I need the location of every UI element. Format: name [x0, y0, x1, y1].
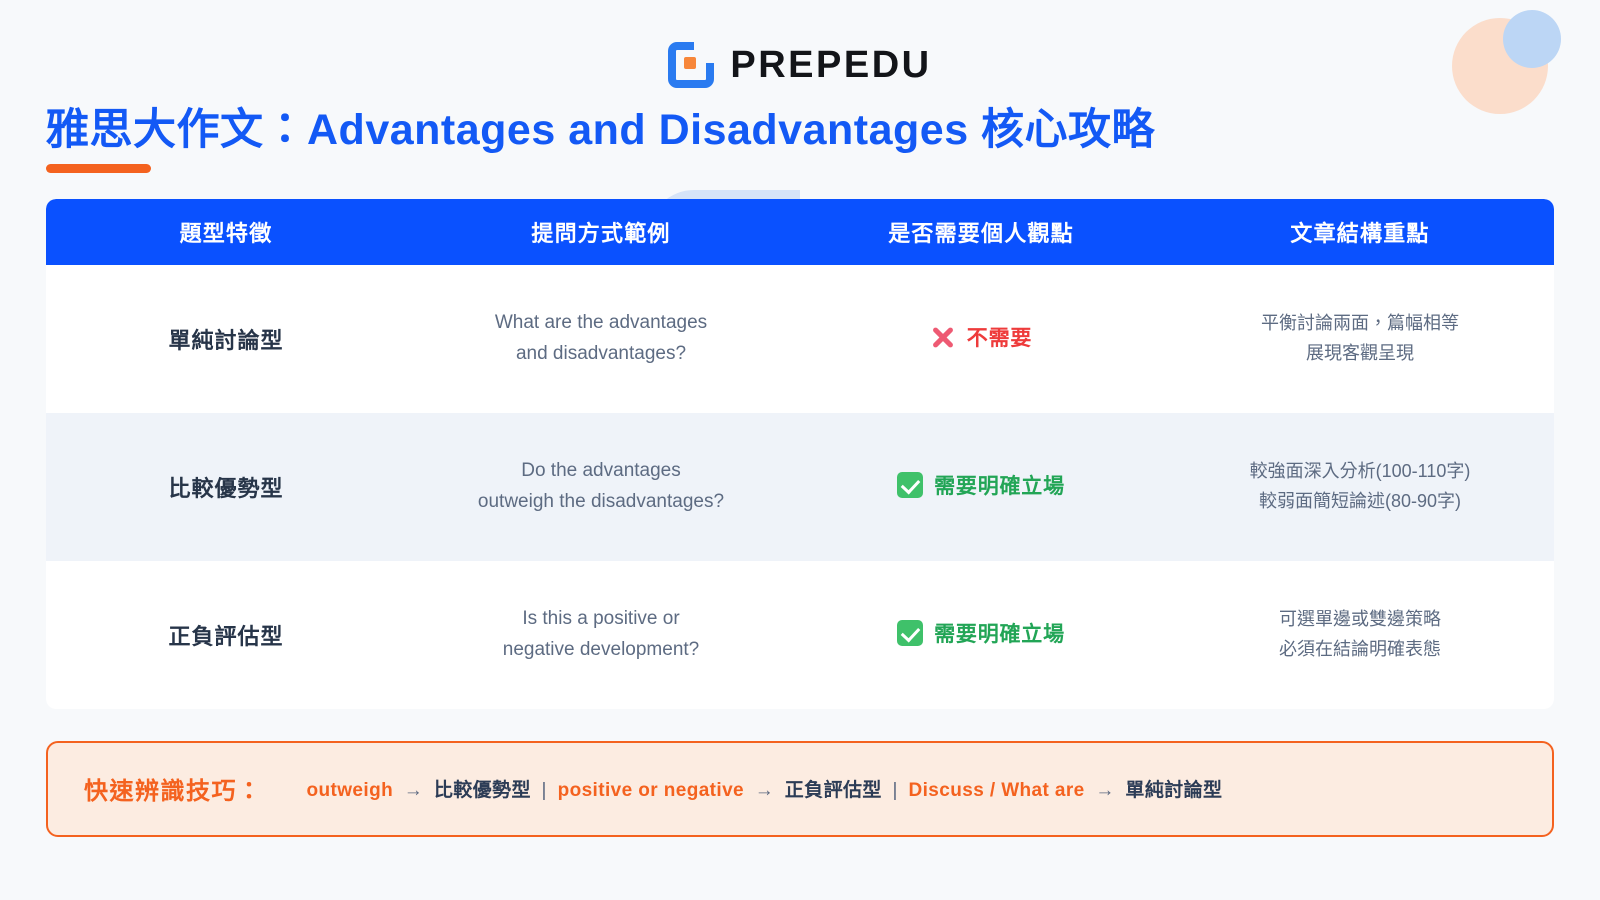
table-row: 比較優勢型 Do the advantagesoutweigh the disa…: [46, 413, 1554, 561]
row-stance-cell: 不需要: [796, 308, 1166, 369]
arrow-icon: →: [1085, 780, 1126, 801]
separator: |: [531, 780, 558, 801]
check-icon: [897, 472, 923, 498]
status-badge: 不需要: [930, 322, 1032, 352]
tip-label: 快速辨識技巧：: [84, 771, 263, 806]
tip-result: 比較優勢型: [434, 780, 531, 801]
status-badge: 需要明確立場: [897, 618, 1065, 648]
row-structure-notes: 平衡討論兩面，篇幅相等展現客觀呈現: [1166, 295, 1554, 382]
separator: |: [882, 780, 909, 801]
table-header-row: 題型特徵 提問方式範例 是否需要個人觀點 文章結構重點: [46, 199, 1554, 265]
row-stance-cell: 需要明確立場: [796, 604, 1166, 665]
tip-keyword: Discuss / What are: [909, 780, 1085, 801]
status-badge: 需要明確立場: [897, 470, 1065, 500]
page-title: 雅思大作文：Advantages and Disadvantages 核心攻略: [46, 106, 1600, 156]
arrow-icon: →: [393, 780, 434, 801]
stance-label: 需要明確立場: [934, 618, 1065, 648]
row-question-example: What are the advantagesand disadvantages…: [406, 294, 796, 383]
row-type-label: 正負評估型: [46, 605, 406, 665]
row-structure-notes: 可選單邊或雙邊策略必須在結論明確表態: [1166, 591, 1554, 678]
check-icon: [897, 620, 923, 646]
column-header-type: 題型特徵: [46, 202, 406, 262]
comparison-table: 題型特徵 提問方式範例 是否需要個人觀點 文章結構重點 單純討論型 What a…: [46, 199, 1554, 709]
row-question-example: Do the advantagesoutweigh the disadvanta…: [406, 442, 796, 531]
brand-name: PREPEDU: [730, 44, 931, 87]
table-row: 單純討論型 What are the advantagesand disadva…: [46, 265, 1554, 413]
tip-result: 單純討論型: [1125, 780, 1222, 801]
tip-keyword: positive or negative: [558, 780, 744, 801]
cross-icon: [930, 324, 956, 350]
title-block: 雅思大作文：Advantages and Disadvantages 核心攻略: [0, 92, 1600, 173]
quick-tip-bar: 快速辨識技巧： outweigh → 比較優勢型 | positive or n…: [46, 741, 1554, 837]
tip-result: 正負評估型: [785, 780, 882, 801]
row-stance-cell: 需要明確立場: [796, 456, 1166, 517]
infographic-page: PREPEDU 雅思大作文：Advantages and Disadvantag…: [0, 0, 1600, 900]
row-type-label: 比較優勢型: [46, 457, 406, 517]
table-row: 正負評估型 Is this a positive ornegative deve…: [46, 561, 1554, 709]
row-structure-notes: 較強面深入分析(100-110字)較弱面簡短論述(80-90字): [1166, 443, 1554, 530]
row-question-example: Is this a positive ornegative developmen…: [406, 590, 796, 679]
tip-keyword: outweigh: [307, 780, 394, 801]
prep-logo-icon: [668, 42, 714, 88]
title-underline-accent: [46, 164, 151, 173]
column-header-question: 提問方式範例: [406, 202, 796, 262]
row-type-label: 單純討論型: [46, 309, 406, 369]
brand-header: PREPEDU: [0, 0, 1600, 92]
column-header-stance: 是否需要個人觀點: [796, 202, 1166, 262]
column-header-structure: 文章結構重點: [1166, 202, 1554, 262]
stance-label: 不需要: [967, 322, 1032, 352]
stance-label: 需要明確立場: [934, 470, 1065, 500]
tip-mappings: outweigh → 比較優勢型 | positive or negative …: [307, 775, 1223, 802]
arrow-icon: →: [744, 780, 785, 801]
